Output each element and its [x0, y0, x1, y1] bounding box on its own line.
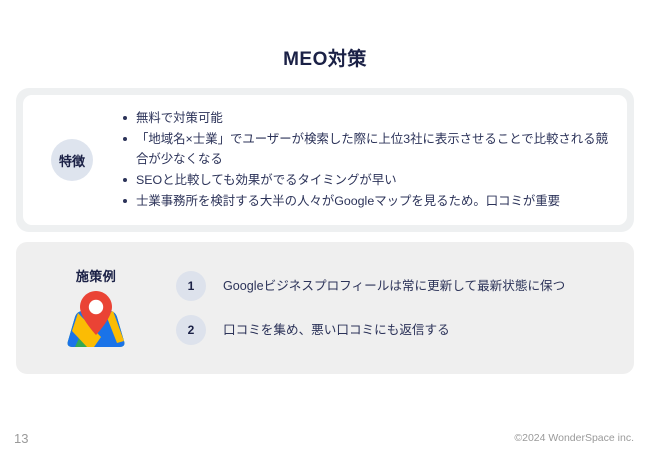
measures-card: 施策例 1 Googleビジネスプロフィールは常に更新して最新状態に保つ — [16, 242, 634, 374]
list-item: 1 Googleビジネスプロフィールは常に更新して最新状態に保つ — [176, 271, 616, 301]
item-number-badge: 1 — [176, 271, 206, 301]
list-item: 「地域名×士業」でユーザーが検索した際に上位3社に表示させることで比較される競合… — [121, 129, 613, 169]
measures-icon-column: 施策例 — [16, 264, 176, 353]
features-bullet-list: 無料で対策可能 「地域名×士業」でユーザーが検索した際に上位3社に表示させること… — [121, 108, 613, 211]
list-item: SEOと比較しても効果がでるタイミングが早い — [121, 170, 613, 190]
list-item: 2 口コミを集め、悪い口コミにも返信する — [176, 315, 616, 345]
features-bullet-column: 無料で対策可能 「地域名×士業」でユーザーが検索した際に上位3社に表示させること… — [121, 108, 627, 212]
measures-list: 1 Googleビジネスプロフィールは常に更新して最新状態に保つ 2 口コミを集… — [176, 271, 634, 345]
features-badge-column: 特徴 — [23, 139, 121, 181]
list-item: 士業事務所を検討する大半の人々がGoogleマップを見るため。口コミが重要 — [121, 191, 613, 211]
item-text: 口コミを集め、悪い口コミにも返信する — [223, 321, 450, 339]
features-card: 特徴 無料で対策可能 「地域名×士業」でユーザーが検索した際に上位3社に表示させ… — [16, 88, 634, 232]
features-card-inner: 特徴 無料で対策可能 「地域名×士業」でユーザーが検索した際に上位3社に表示させ… — [23, 95, 627, 225]
list-item: 無料で対策可能 — [121, 108, 613, 128]
page-number: 13 — [14, 431, 28, 446]
google-maps-pin-icon — [61, 289, 131, 353]
slide-root: MEO対策 特徴 無料で対策可能 「地域名×士業」でユーザーが検索した際に上位3… — [0, 0, 650, 458]
item-number-badge: 2 — [176, 315, 206, 345]
item-text: Googleビジネスプロフィールは常に更新して最新状態に保つ — [223, 277, 565, 295]
copyright-notice: ©2024 WonderSpace inc. — [514, 432, 634, 444]
measures-label: 施策例 — [76, 266, 116, 285]
status-badge: 特徴 — [51, 139, 93, 181]
page-title: MEO対策 — [0, 44, 650, 71]
